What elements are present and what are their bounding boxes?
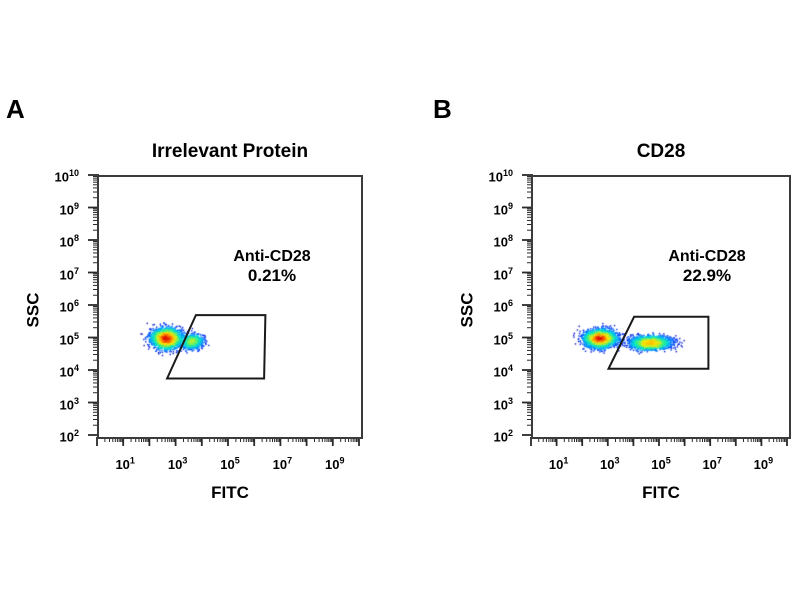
panel-title-b: CD28 [531, 142, 791, 161]
y-tick-label: 102 [45, 431, 79, 444]
y-tick-label: 107 [479, 268, 513, 281]
y-tick-label: 109 [45, 203, 79, 216]
panel-title-a: Irrelevant Protein [97, 142, 363, 161]
x-axis-title-a: FITC [97, 483, 363, 503]
y-tick-label: 107 [45, 268, 79, 281]
x-tick-label: 103 [168, 458, 187, 471]
y-tick-label: 106 [45, 301, 79, 314]
plot-canvas-b [533, 177, 789, 437]
gate-percent-a: 0.21% [197, 266, 347, 286]
x-axis-ticks-b [527, 437, 795, 455]
x-axis-ticks-a [93, 437, 367, 455]
gate-label-text-a: Anti-CD28 [233, 248, 310, 265]
y-tick-label: 108 [45, 236, 79, 249]
y-tick-label: 105 [45, 333, 79, 346]
plot-area-b [531, 175, 791, 439]
x-tick-label: 105 [651, 458, 670, 471]
panel-letter-b: B [433, 96, 452, 122]
density-scatter-b [533, 177, 789, 437]
y-tick-label: 103 [45, 398, 79, 411]
x-tick-label: 107 [702, 458, 721, 471]
gate-label-text-b: Anti-CD28 [668, 248, 745, 265]
x-tick-label: 107 [273, 458, 292, 471]
y-axis-title-a: SSC [23, 293, 43, 328]
y-axis-title-b: SSC [457, 293, 477, 328]
gate-percent-b: 22.9% [632, 266, 782, 286]
panel-letter-a: A [6, 96, 25, 122]
x-tick-label: 105 [220, 458, 239, 471]
y-tick-label: 103 [479, 398, 513, 411]
y-tick-label: 1010 [479, 171, 513, 184]
gate-label-b: Anti-CD28 22.9% [632, 248, 782, 286]
x-tick-label: 103 [600, 458, 619, 471]
y-tick-label: 1010 [45, 171, 79, 184]
y-axis-ticks-a [79, 171, 99, 443]
figure-root: A Irrelevant Protein SSC FITC 1021031041… [0, 0, 800, 600]
plot-area-a [97, 175, 363, 439]
plot-canvas-a [99, 177, 361, 437]
y-tick-label: 109 [479, 203, 513, 216]
y-tick-label: 104 [479, 366, 513, 379]
density-scatter-a [99, 177, 361, 437]
y-tick-label: 106 [479, 301, 513, 314]
y-tick-label: 104 [45, 366, 79, 379]
x-axis-title-b: FITC [531, 483, 791, 503]
y-axis-ticks-b [513, 171, 533, 443]
x-tick-label: 109 [325, 458, 344, 471]
x-tick-label: 109 [754, 458, 773, 471]
x-tick-label: 101 [115, 458, 134, 471]
y-tick-label: 108 [479, 236, 513, 249]
gate-label-a: Anti-CD28 0.21% [197, 248, 347, 286]
x-tick-label: 101 [549, 458, 568, 471]
y-tick-label: 105 [479, 333, 513, 346]
panel-a: A Irrelevant Protein SSC FITC 1021031041… [0, 0, 400, 600]
panel-b: B CD28 SSC FITC 102103104105106107108109… [400, 0, 800, 600]
y-tick-label: 102 [479, 431, 513, 444]
